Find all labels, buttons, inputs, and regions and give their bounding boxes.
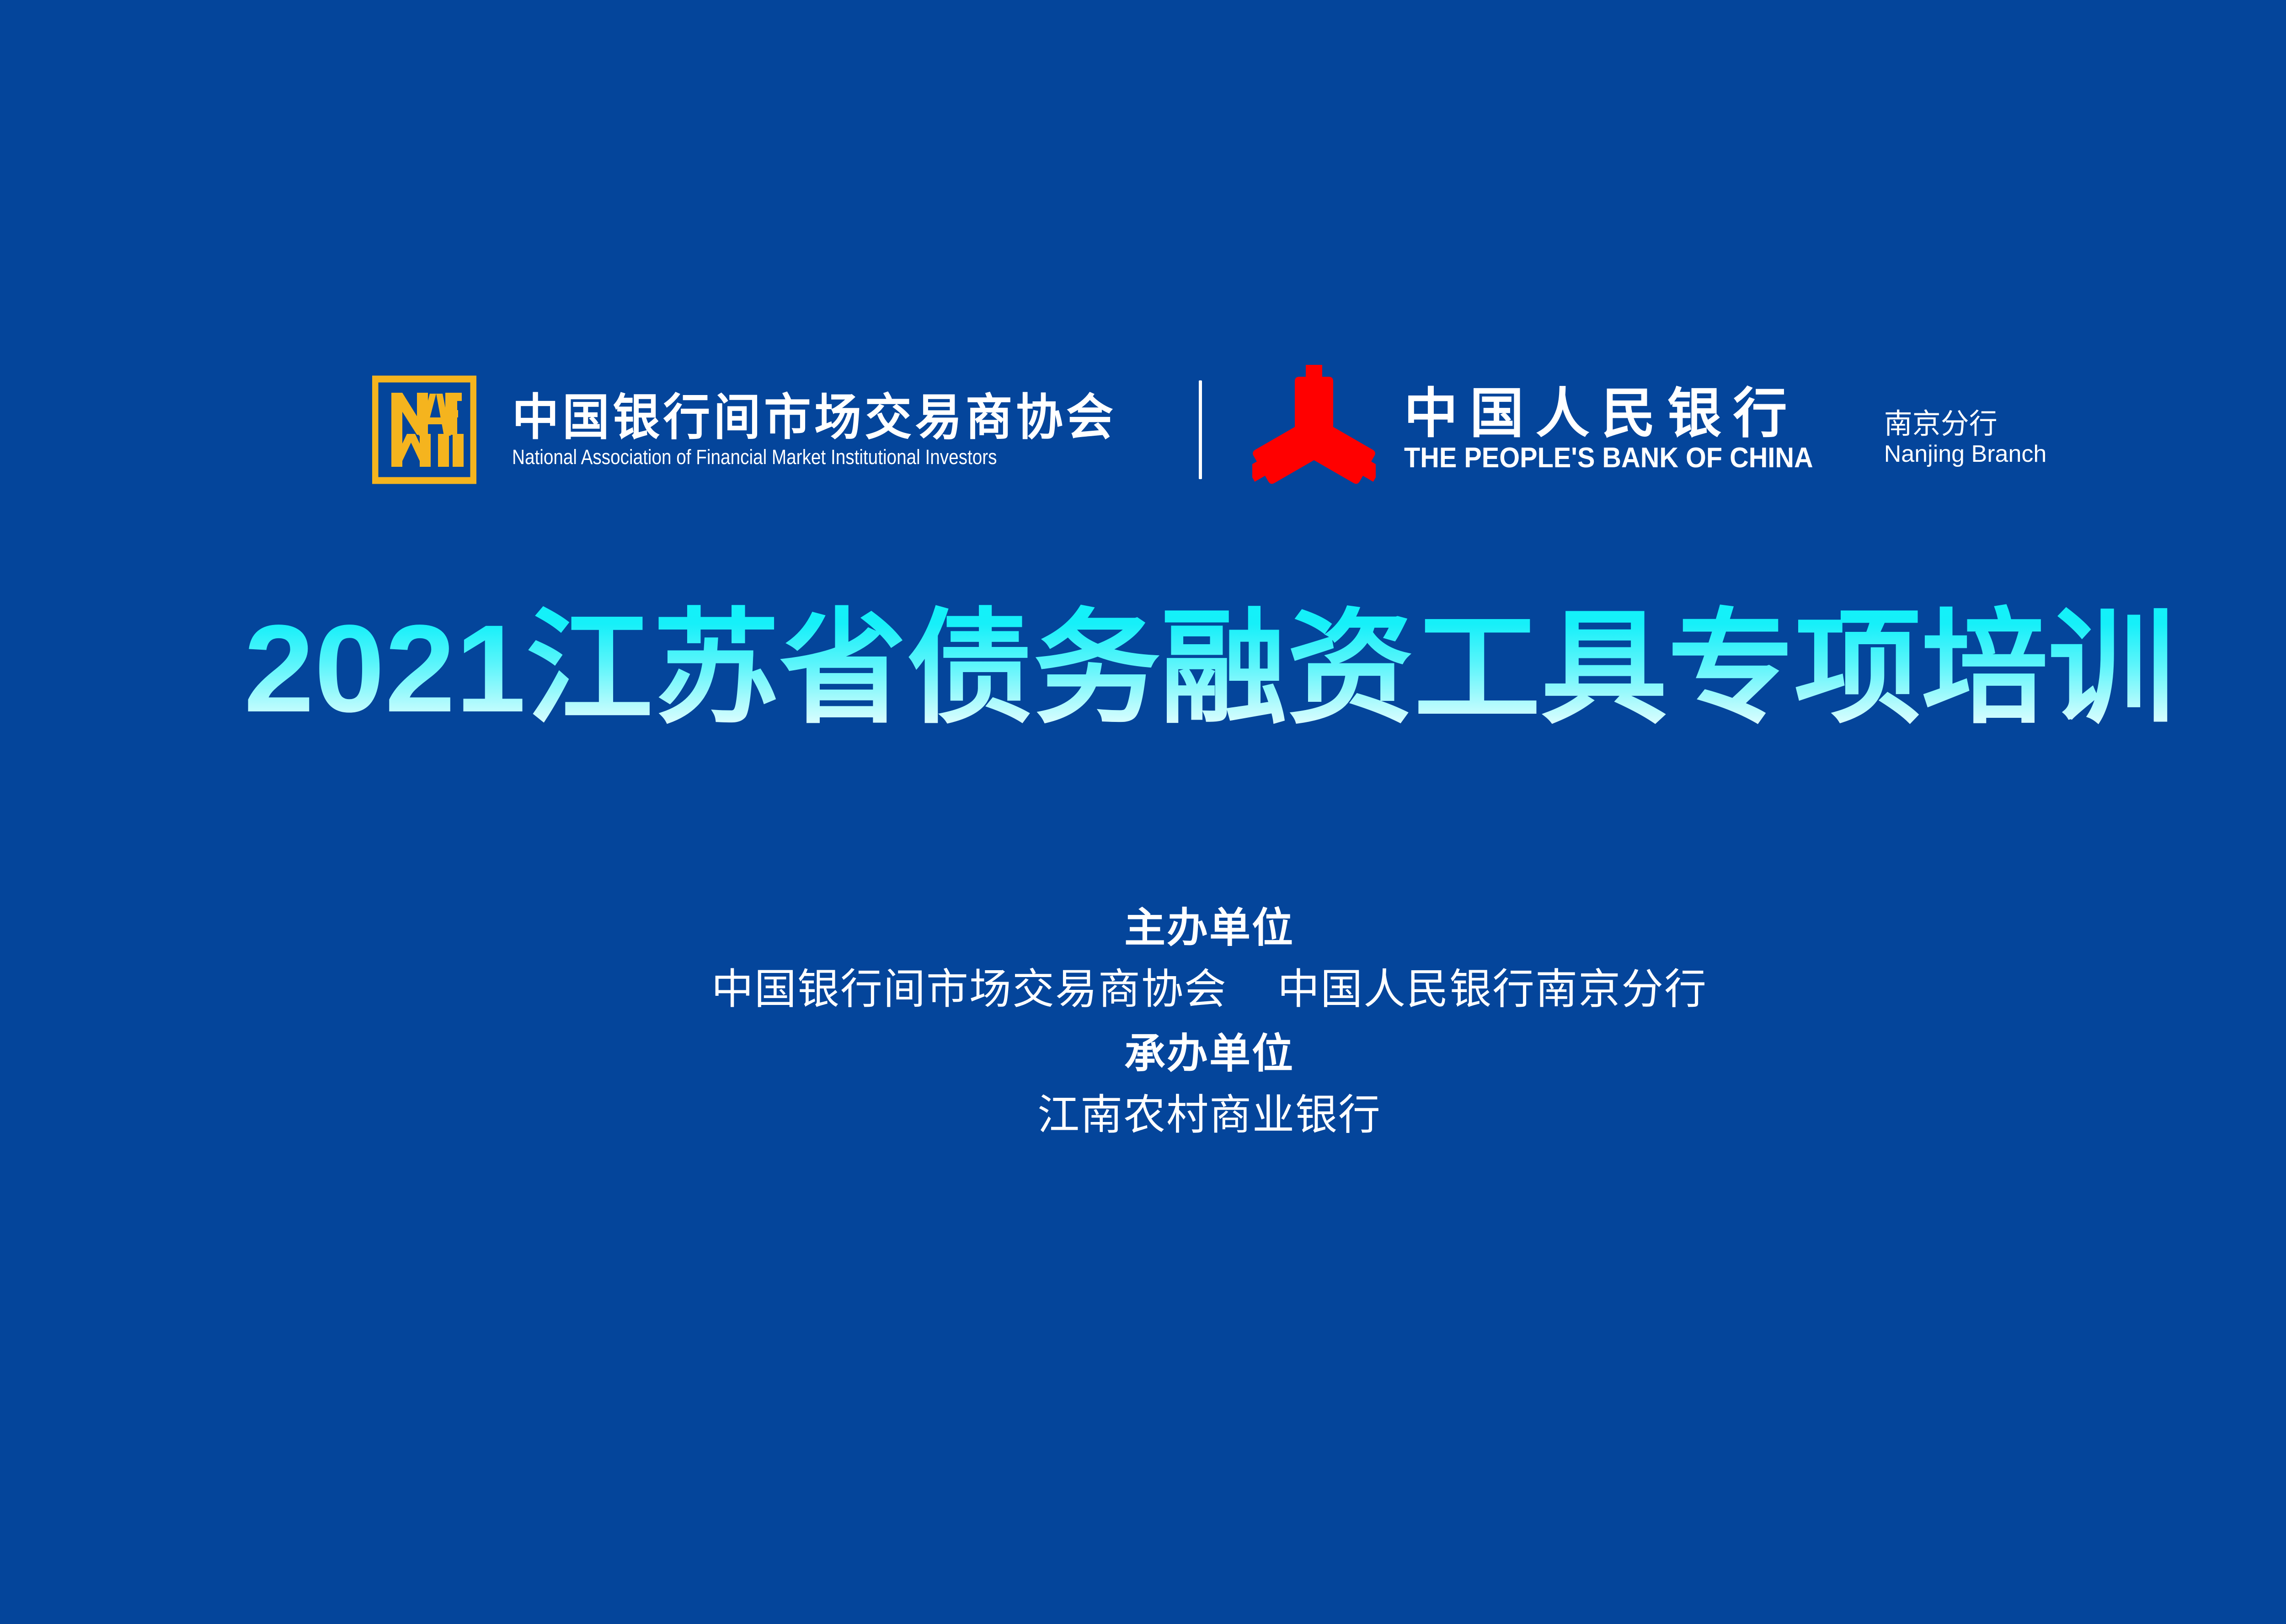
organizer-organizations: 江南农村商业银行: [0, 1088, 2286, 1143]
host-label: 主办单位: [0, 903, 2286, 954]
presentation-title-slide: 中国银行间市场交易商协会 National Association of Fin…: [0, 0, 2286, 1624]
pboc-wordmark: 中国人民银行 THE PEOPLE'S BANK OF CHINA: [1404, 387, 1844, 472]
pboc-emblem-icon: [1252, 361, 1376, 498]
credits-block: 主办单位 中国银行间市场交易商协会 中国人民银行南京分行 承办单位 江南农村商业…: [0, 903, 2286, 1143]
nafmii-mark-icon: [372, 375, 476, 484]
nafmii-name-cn: 中国银行间市场交易商协会: [512, 393, 1116, 442]
page-title: 2021江苏省债务融资工具专项培训: [0, 589, 2286, 748]
host-organizations: 中国银行间市场交易商协会 中国人民银行南京分行: [0, 962, 2286, 1017]
nafmii-name-en: National Association of Financial Market…: [512, 447, 1059, 467]
pboc-logo-group: 中国人民银行 THE PEOPLE'S BANK OF CHINA 南京分行 N…: [1252, 361, 2047, 498]
organizer-label: 承办单位: [0, 1029, 2286, 1080]
pboc-name-en: THE PEOPLE'S BANK OF CHINA: [1404, 444, 1813, 472]
nafmii-wordmark: 中国银行间市场交易商协会 National Association of Fin…: [512, 393, 1148, 467]
pboc-name-cn: 中国人民银行: [1404, 387, 1844, 441]
nafmii-logo-group: 中国银行间市场交易商协会 National Association of Fin…: [372, 375, 1148, 484]
logo-divider: [1199, 380, 1202, 479]
pboc-branch-block: 南京分行 Nanjing Branch: [1884, 394, 2047, 466]
logo-band: 中国银行间市场交易商协会 National Association of Fin…: [0, 361, 2286, 498]
pboc-branch-en: Nanjing Branch: [1884, 442, 2047, 466]
pboc-branch-cn: 南京分行: [1884, 410, 2047, 438]
